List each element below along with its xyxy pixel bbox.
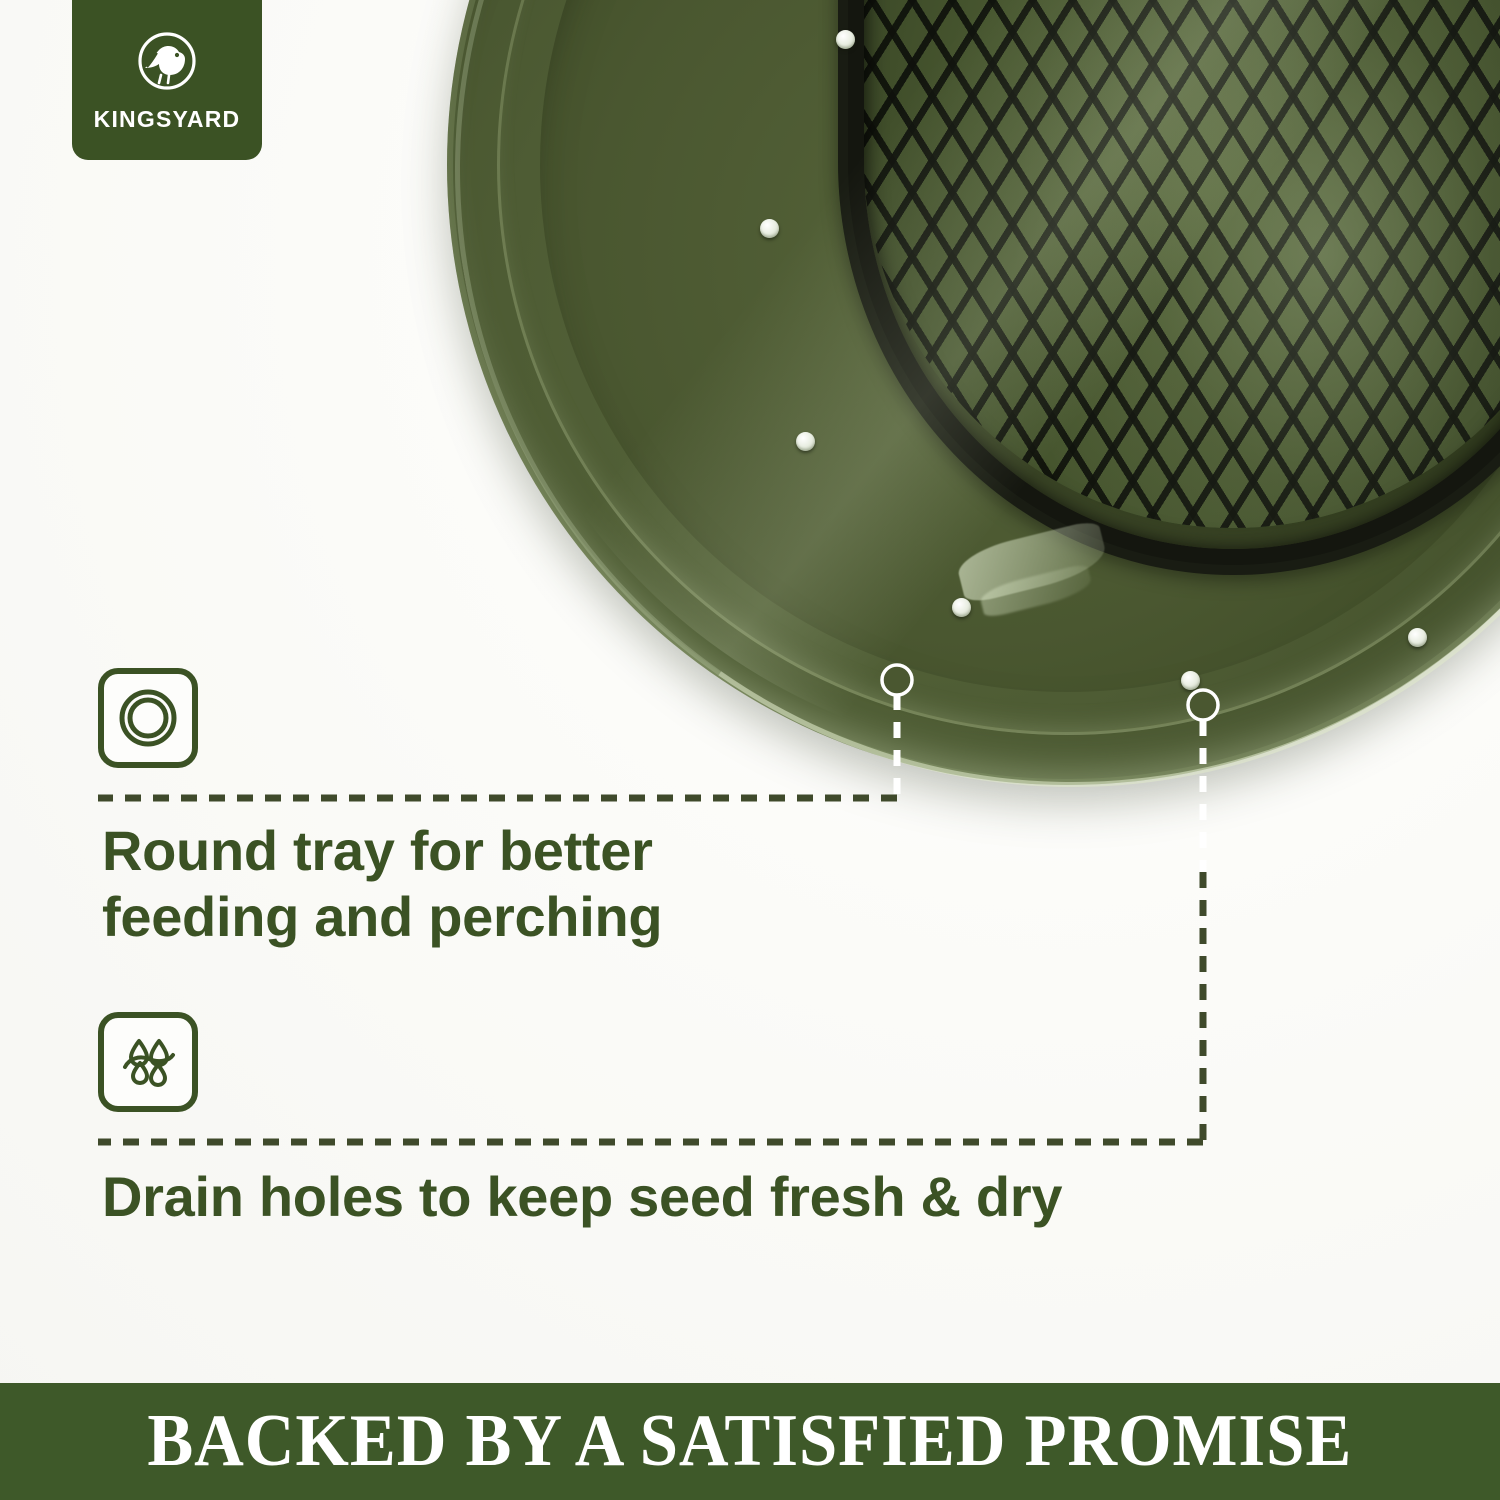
brand-wordmark: KINGSYARD [94, 106, 241, 133]
concentric-circles-tray-icon [116, 686, 180, 750]
feature-drain-holes: Drain holes to keep seed fresh & dry [98, 1012, 198, 1112]
drain-hole [836, 30, 855, 49]
bird-in-circle-icon [125, 28, 209, 100]
feature-icon-wrapper [98, 1012, 198, 1112]
drain-hole [760, 219, 779, 238]
feature-caption-drain-holes: Drain holes to keep seed fresh & dry [102, 1164, 1162, 1230]
feature-icon-wrapper [98, 668, 198, 768]
promise-banner-text: BACKED BY A SATISFIED PROMISE [148, 1399, 1353, 1484]
product-feature-infographic: KINGSYARD Round tray for better feeding … [0, 0, 1500, 1500]
drain-hole [1181, 671, 1200, 690]
drain-hole [952, 598, 971, 617]
product-photo [0, 0, 1500, 1500]
water-droplets-drainage-icon [115, 1029, 181, 1095]
brand-logo-badge: KINGSYARD [72, 0, 262, 160]
drain-hole [1408, 628, 1427, 647]
drain-hole [796, 432, 815, 451]
promise-banner: BACKED BY A SATISFIED PROMISE [0, 1383, 1500, 1500]
feature-round-tray: Round tray for better feeding and perchi… [98, 668, 198, 768]
feature-caption-round-tray: Round tray for better feeding and perchi… [102, 818, 782, 950]
